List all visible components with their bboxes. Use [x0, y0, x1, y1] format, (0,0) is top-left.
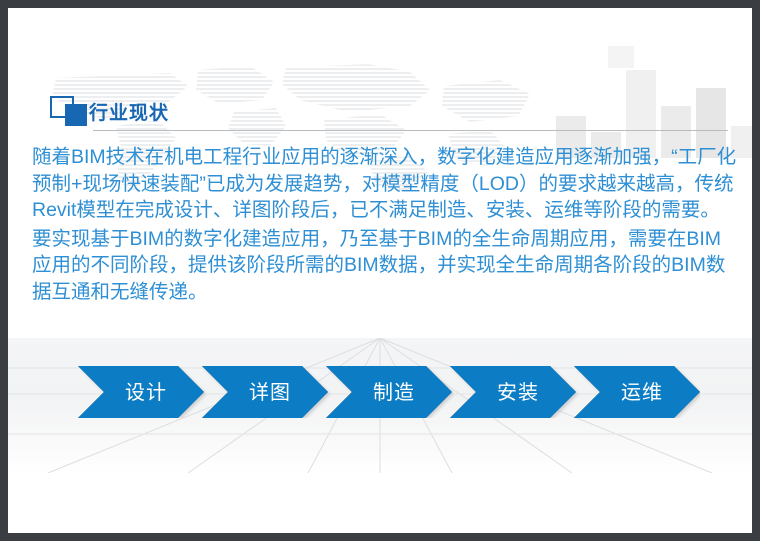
paragraph-2: 要实现基于BIM的数字化建造应用，乃至基于BIM的全生命周期应用，需要在BIM应…: [32, 226, 737, 306]
paragraph-1: 随着BIM技术在机电工程行业应用的逐渐深入，数字化建造应用逐渐加强，“工厂化预制…: [32, 144, 737, 224]
slide-canvas: 行业现状 随着BIM技术在机电工程行业应用的逐渐深入，数字化建造应用逐渐加强，“…: [8, 8, 752, 533]
title-divider: [93, 130, 728, 131]
dual-square-icon: [45, 94, 89, 128]
decor-block: [608, 46, 634, 68]
process-step-label: 设计: [125, 381, 167, 404]
process-step-label: 制造: [373, 381, 415, 404]
process-flow-diagram: 设计 详图 制造 安装 运维: [78, 366, 700, 418]
page-title: 行业现状: [89, 98, 169, 125]
body-copy: 随着BIM技术在机电工程行业应用的逐渐深入，数字化建造应用逐渐加强，“工厂化预制…: [32, 144, 737, 305]
process-step-label: 安装: [497, 381, 539, 404]
process-step-label: 详图: [249, 381, 291, 404]
square-filled-shape: [65, 104, 87, 126]
section-title: 行业现状: [45, 90, 169, 132]
process-step-label: 运维: [621, 381, 663, 404]
